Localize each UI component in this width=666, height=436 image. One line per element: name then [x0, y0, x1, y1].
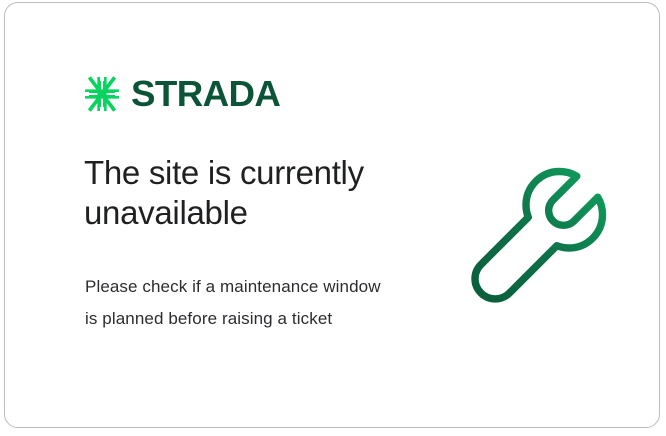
page-description: Please check if a maintenance window is …: [85, 271, 385, 335]
page-title: The site is currently unavailable: [84, 153, 424, 233]
maintenance-card: STRADA The site is currently unavailable…: [4, 2, 660, 428]
asterisk-starburst-icon: [83, 75, 121, 113]
wrench-icon: [463, 163, 611, 311]
brand-wordmark: STRADA: [131, 76, 280, 112]
brand-logo: STRADA: [83, 74, 277, 114]
error-page: STRADA The site is currently unavailable…: [0, 0, 666, 436]
